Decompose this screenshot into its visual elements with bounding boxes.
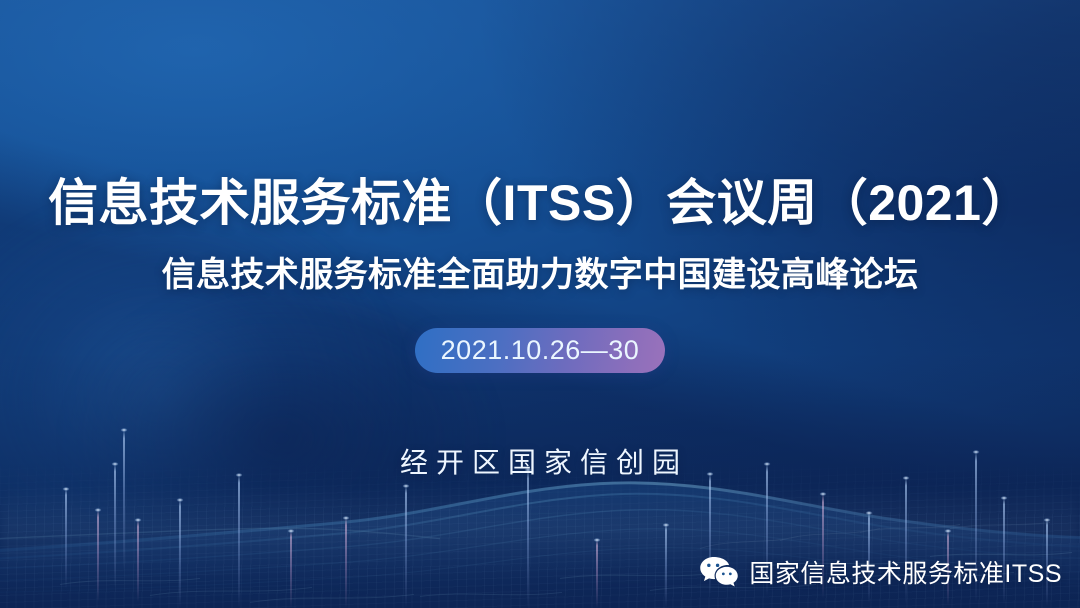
date-badge: 2021.10.26—30 xyxy=(415,328,666,373)
poster-subtitle: 信息技术服务标准全面助力数字中国建设高峰论坛 xyxy=(0,257,1080,294)
wechat-account-name: 国家信息技术服务标准ITSS xyxy=(749,554,1062,590)
conference-poster: 信息技术服务标准（ITSS）会议周（2021） 信息技术服务标准全面助力数字中国… xyxy=(0,0,1080,608)
venue-label: 经开区国家信创园 xyxy=(0,441,1080,481)
wechat-icon xyxy=(699,555,739,589)
poster-content: 信息技术服务标准（ITSS）会议周（2021） 信息技术服务标准全面助力数字中国… xyxy=(0,0,1080,608)
poster-title: 信息技术服务标准（ITSS）会议周（2021） xyxy=(0,177,1080,230)
wechat-watermark: 国家信息技术服务标准ITSS xyxy=(699,554,1062,590)
date-badge-container: 2021.10.26—30 xyxy=(0,328,1080,373)
